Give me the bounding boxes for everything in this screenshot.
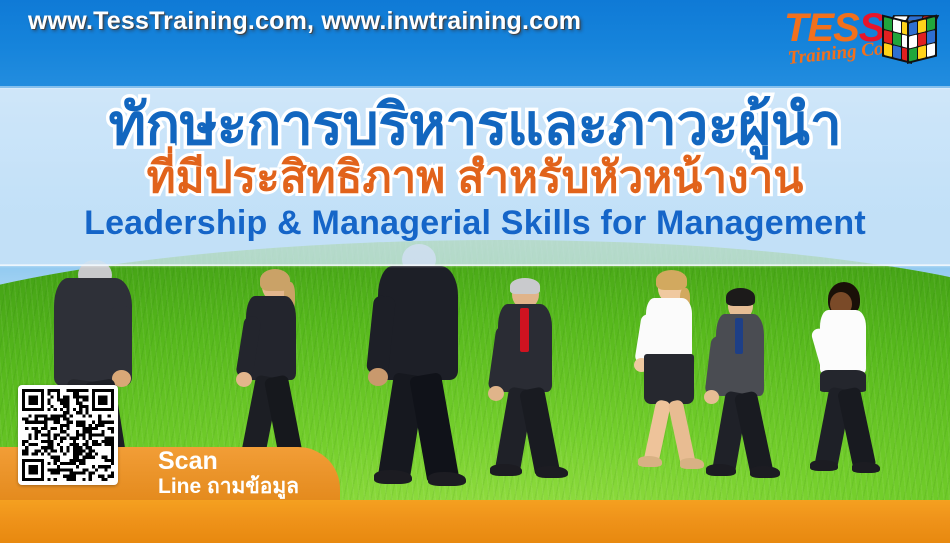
person-businessman-foreground xyxy=(370,248,466,486)
person-senior-businessman-red-tie xyxy=(486,280,564,478)
footer-bar xyxy=(0,500,950,543)
person-businesswoman-white-blouse xyxy=(632,274,706,476)
qr-code-icon xyxy=(22,389,114,481)
headline-thai-line1: ทักษะการบริหารและภาวะผู้นำ xyxy=(0,88,950,158)
qr-code-card[interactable] xyxy=(18,385,118,485)
scan-label-line2: Line ถามข้อมูล xyxy=(158,475,368,499)
person-businesswoman-dark-hair xyxy=(806,286,878,478)
subtitle-english: Leadership & Managerial Skills for Manag… xyxy=(0,202,950,244)
person-businessman-grey-suit xyxy=(704,292,774,478)
person-businesswoman-walking xyxy=(232,272,310,472)
scan-badge-text: Scan Line ถามข้อมูล xyxy=(158,449,368,499)
headline-thai-line2: ที่มีประสิทธิภาพ สำหรับหัวหน้างาน xyxy=(0,152,950,204)
footer-websites[interactable]: www.TessTraining.com, www.inwtraining.co… xyxy=(0,0,950,43)
course-banner: ทักษะการบริหารและภาวะผู้นำ ที่มีประสิทธิ… xyxy=(0,0,950,543)
scan-label-line1: Scan xyxy=(158,449,368,474)
headline-block: ทักษะการบริหารและภาวะผู้นำ ที่มีประสิทธิ… xyxy=(0,88,950,268)
